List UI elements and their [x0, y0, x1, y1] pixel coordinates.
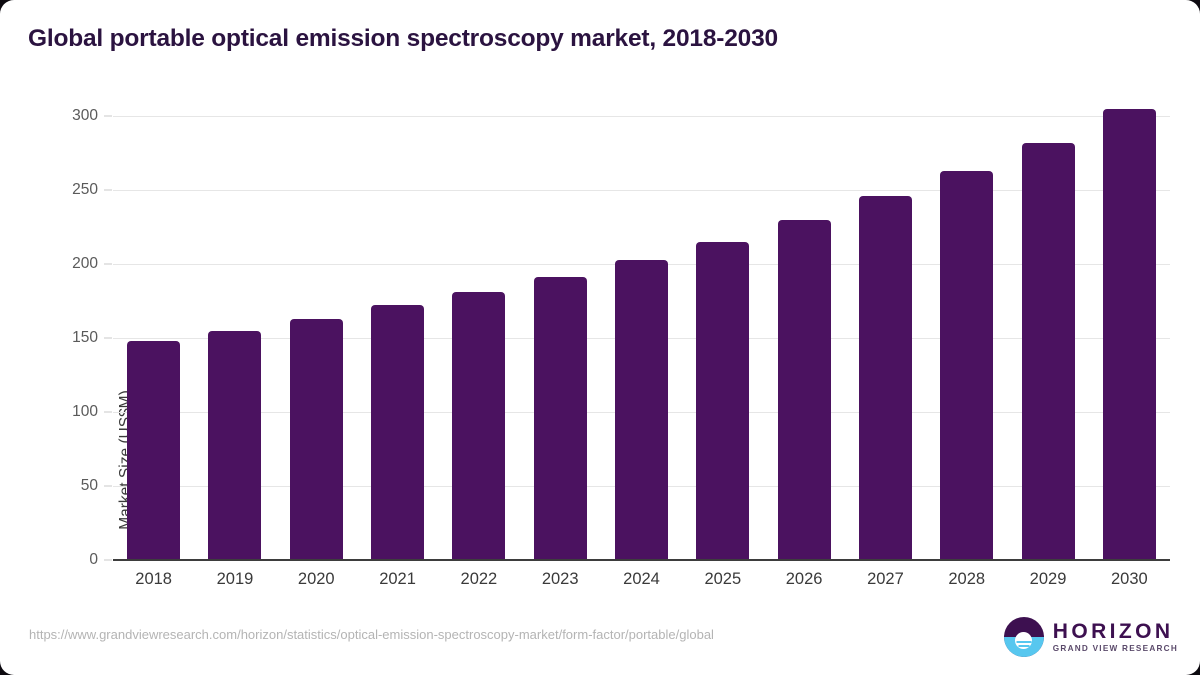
chart-card: Global portable optical emission spectro… [0, 0, 1200, 675]
logo-tagline: GRAND VIEW RESEARCH [1053, 645, 1178, 654]
bar-2018[interactable] [127, 341, 180, 560]
logo-wordmark: HORIZON [1053, 621, 1178, 643]
y-axis-tick-mark [104, 486, 112, 487]
x-axis-line [113, 559, 1170, 561]
bar-2029[interactable] [1022, 143, 1075, 560]
source-url: https://www.grandviewresearch.com/horizo… [29, 627, 714, 642]
y-axis-tick-label: 50 [28, 477, 98, 495]
y-axis-tick-mark [104, 264, 112, 265]
y-axis-tick-label: 0 [28, 551, 98, 569]
x-axis-tick-label: 2022 [461, 570, 498, 589]
bar-2022[interactable] [452, 292, 505, 560]
x-axis-tick-label: 2021 [379, 570, 416, 589]
bar-2024[interactable] [615, 260, 668, 560]
x-axis-tick-label: 2025 [704, 570, 741, 589]
bar-2027[interactable] [859, 196, 912, 560]
y-axis-tick-mark [104, 560, 112, 561]
x-axis-tick-label: 2023 [542, 570, 579, 589]
bar-2019[interactable] [208, 331, 261, 560]
x-axis-tick-label: 2018 [135, 570, 172, 589]
x-axis-tick-label: 2024 [623, 570, 660, 589]
x-axis-tick-label: 2029 [1030, 570, 1067, 589]
bar-2026[interactable] [778, 220, 831, 560]
x-axis-tick-label: 2028 [948, 570, 985, 589]
horizon-logo: HORIZON GRAND VIEW RESEARCH [1004, 617, 1178, 657]
bar-2021[interactable] [371, 305, 424, 560]
x-axis-tick-label: 2019 [217, 570, 254, 589]
horizon-logo-icon [1004, 617, 1044, 657]
plot-area: Market Size (US$M) [113, 116, 1170, 560]
page-title: Global portable optical emission spectro… [28, 25, 778, 53]
gridline [113, 190, 1170, 191]
y-axis-tick-mark [104, 190, 112, 191]
y-axis-tick-mark [104, 412, 112, 413]
x-axis-tick-label: 2030 [1111, 570, 1148, 589]
y-axis-tick-label: 100 [28, 403, 98, 421]
bar-2020[interactable] [290, 319, 343, 560]
bar-2025[interactable] [696, 242, 749, 560]
y-axis-tick-label: 300 [28, 107, 98, 125]
bar-2028[interactable] [940, 171, 993, 560]
y-axis-tick-label: 250 [28, 181, 98, 199]
x-axis-tick-label: 2020 [298, 570, 335, 589]
y-axis-tick-mark [104, 338, 112, 339]
gridline [113, 116, 1170, 117]
x-axis-tick-label: 2027 [867, 570, 904, 589]
y-axis-tick-label: 200 [28, 255, 98, 273]
y-axis-tick-mark [104, 116, 112, 117]
bar-2030[interactable] [1103, 109, 1156, 560]
y-axis-tick-label: 150 [28, 329, 98, 347]
x-axis-tick-label: 2026 [786, 570, 823, 589]
bar-2023[interactable] [534, 277, 587, 560]
